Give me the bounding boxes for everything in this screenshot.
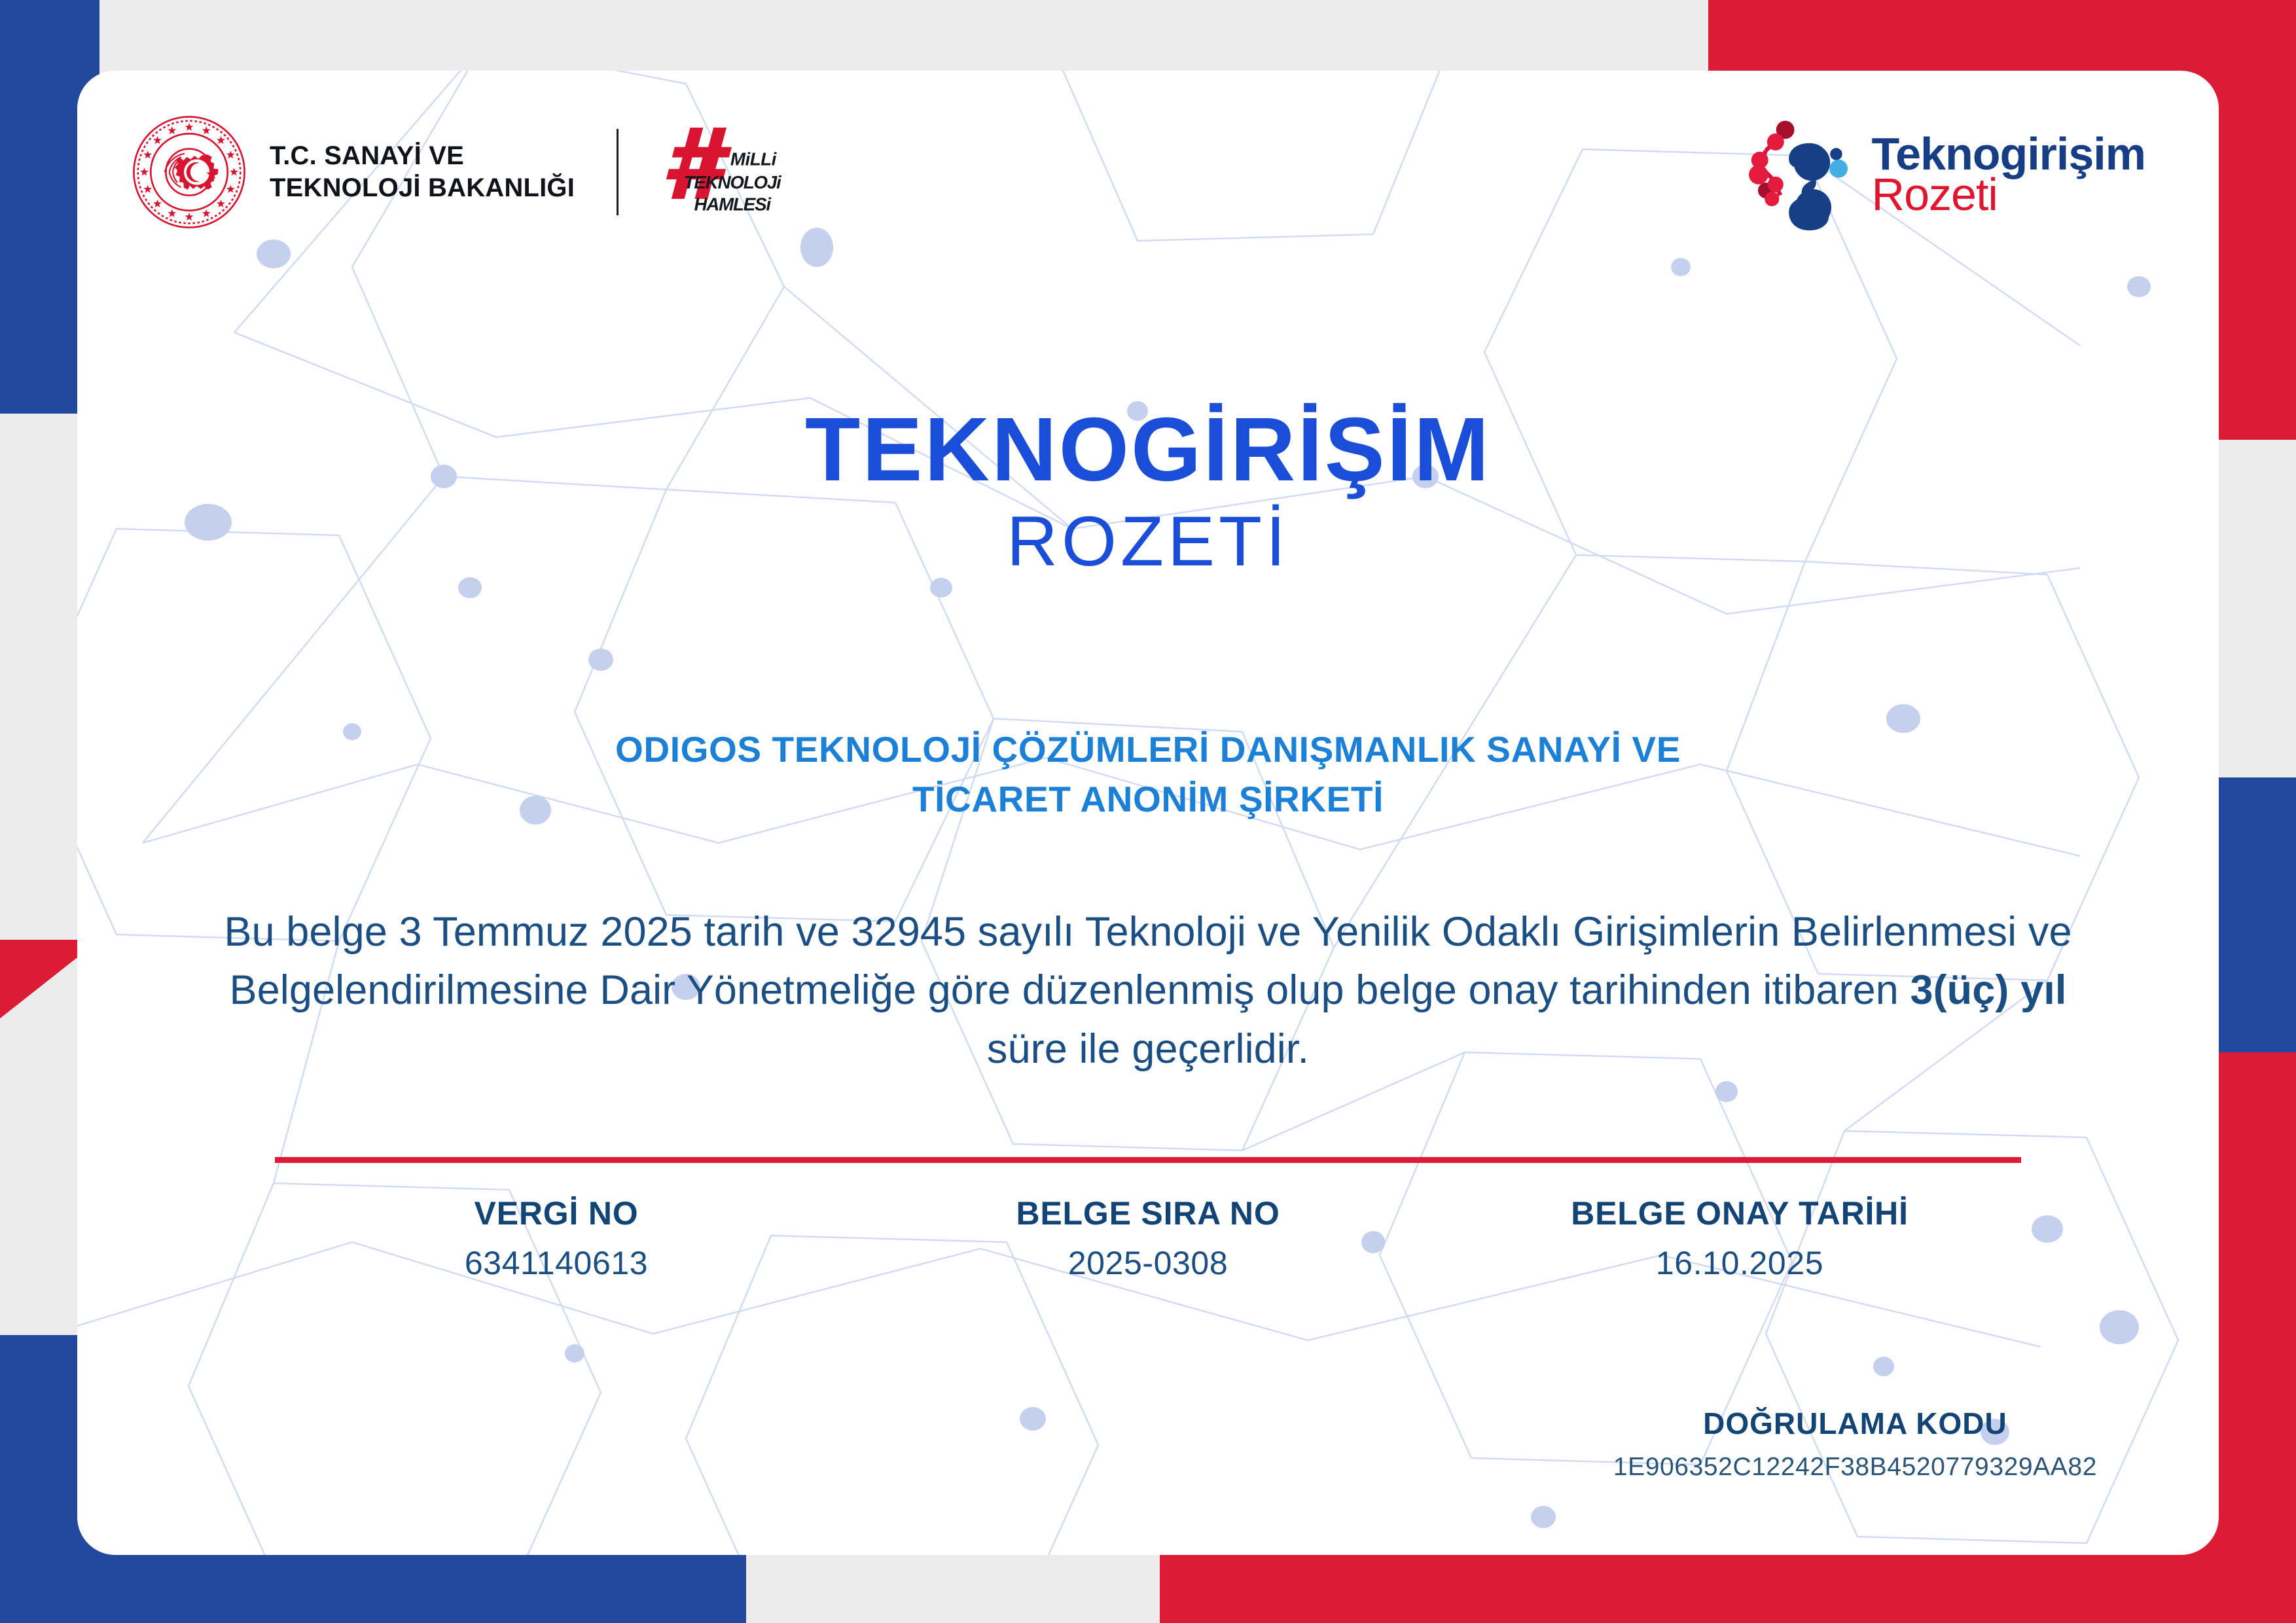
body-text-after: süre ile geçerlidir. xyxy=(987,1026,1309,1072)
field-value: 16.10.2025 xyxy=(1570,1243,1910,1283)
verification-code: 1E906352C12242F38B4520779329AA82 xyxy=(1613,1453,2097,1482)
field-divider xyxy=(275,1157,2021,1163)
field-label: BELGE ONAY TARİHİ xyxy=(1570,1194,1910,1233)
ministry-name: T.C. SANAYİ VE TEKNOLOJİ BAKANLIĞI xyxy=(270,140,575,204)
field-belge-onay-tarihi: BELGE ONAY TARİHİ 16.10.2025 xyxy=(1570,1194,1910,1283)
milli-teknoloji-hamlesi-logo: MiLLi TEKNOLOJi HAMLESi xyxy=(660,124,790,221)
field-label: BELGE SIRA NO xyxy=(978,1194,1318,1233)
company-name-line-2: TİCARET ANONİM ŞİRKETİ xyxy=(77,775,2219,825)
certificate-card: T.C. SANAYİ VE TEKNOLOJİ BAKANLIĞI MiLLi… xyxy=(77,71,2219,1555)
header-row: T.C. SANAYİ VE TEKNOLOJİ BAKANLIĞI MiLLi… xyxy=(77,109,2219,246)
verification-label: DOĞRULAMA KODU xyxy=(1613,1406,2097,1441)
company-name-block: ODIGOS TEKNOLOJİ ÇÖZÜMLERİ DANIŞMANLIK S… xyxy=(77,725,2219,825)
svg-text:TEKNOLOJi: TEKNOLOJi xyxy=(684,172,782,192)
teknogirisim-network-mark-icon xyxy=(1742,116,1855,232)
verification-block: DOĞRULAMA KODU 1E906352C12242F38B4520779… xyxy=(1613,1406,2097,1482)
page-subtitle: ROZETİ xyxy=(77,504,2219,578)
svg-text:HAMLESi: HAMLESi xyxy=(694,194,772,214)
header-divider xyxy=(617,129,619,215)
hero-title-block: TEKNOGİRİŞİM ROZETİ xyxy=(77,404,2219,578)
validity-duration: 3(üç) yıl xyxy=(1910,967,2066,1013)
field-belge-sira-no: BELGE SIRA NO 2025-0308 xyxy=(978,1194,1318,1283)
field-vergi-no: VERGİ NO 6341140613 xyxy=(386,1194,726,1283)
turkish-ministry-seal-icon xyxy=(131,114,247,230)
field-value: 6341140613 xyxy=(386,1243,726,1283)
body-paragraph: Bu belge 3 Temmuz 2025 tarih ve 32945 sa… xyxy=(208,903,2088,1079)
fields-row: VERGİ NO 6341140613 BELGE SIRA NO 2025-0… xyxy=(260,1194,2036,1283)
ministry-logo-group: T.C. SANAYİ VE TEKNOLOJİ BAKANLIĞI MiLLi… xyxy=(131,114,790,230)
teknogirisim-wordmark: Teknogirişim Rozeti xyxy=(1872,131,2145,217)
teknogirisim-logo-group: Teknogirişim Rozeti xyxy=(1742,116,2145,232)
body-text-before: Bu belge 3 Temmuz 2025 tarih ve 32945 sa… xyxy=(224,909,2072,1013)
svg-text:MiLLi: MiLLi xyxy=(730,149,778,169)
page-title: TEKNOGİRİŞİM xyxy=(77,404,2219,495)
field-value: 2025-0308 xyxy=(978,1243,1318,1283)
field-label: VERGİ NO xyxy=(386,1194,726,1233)
company-name-line-1: ODIGOS TEKNOLOJİ ÇÖZÜMLERİ DANIŞMANLIK S… xyxy=(77,725,2219,775)
